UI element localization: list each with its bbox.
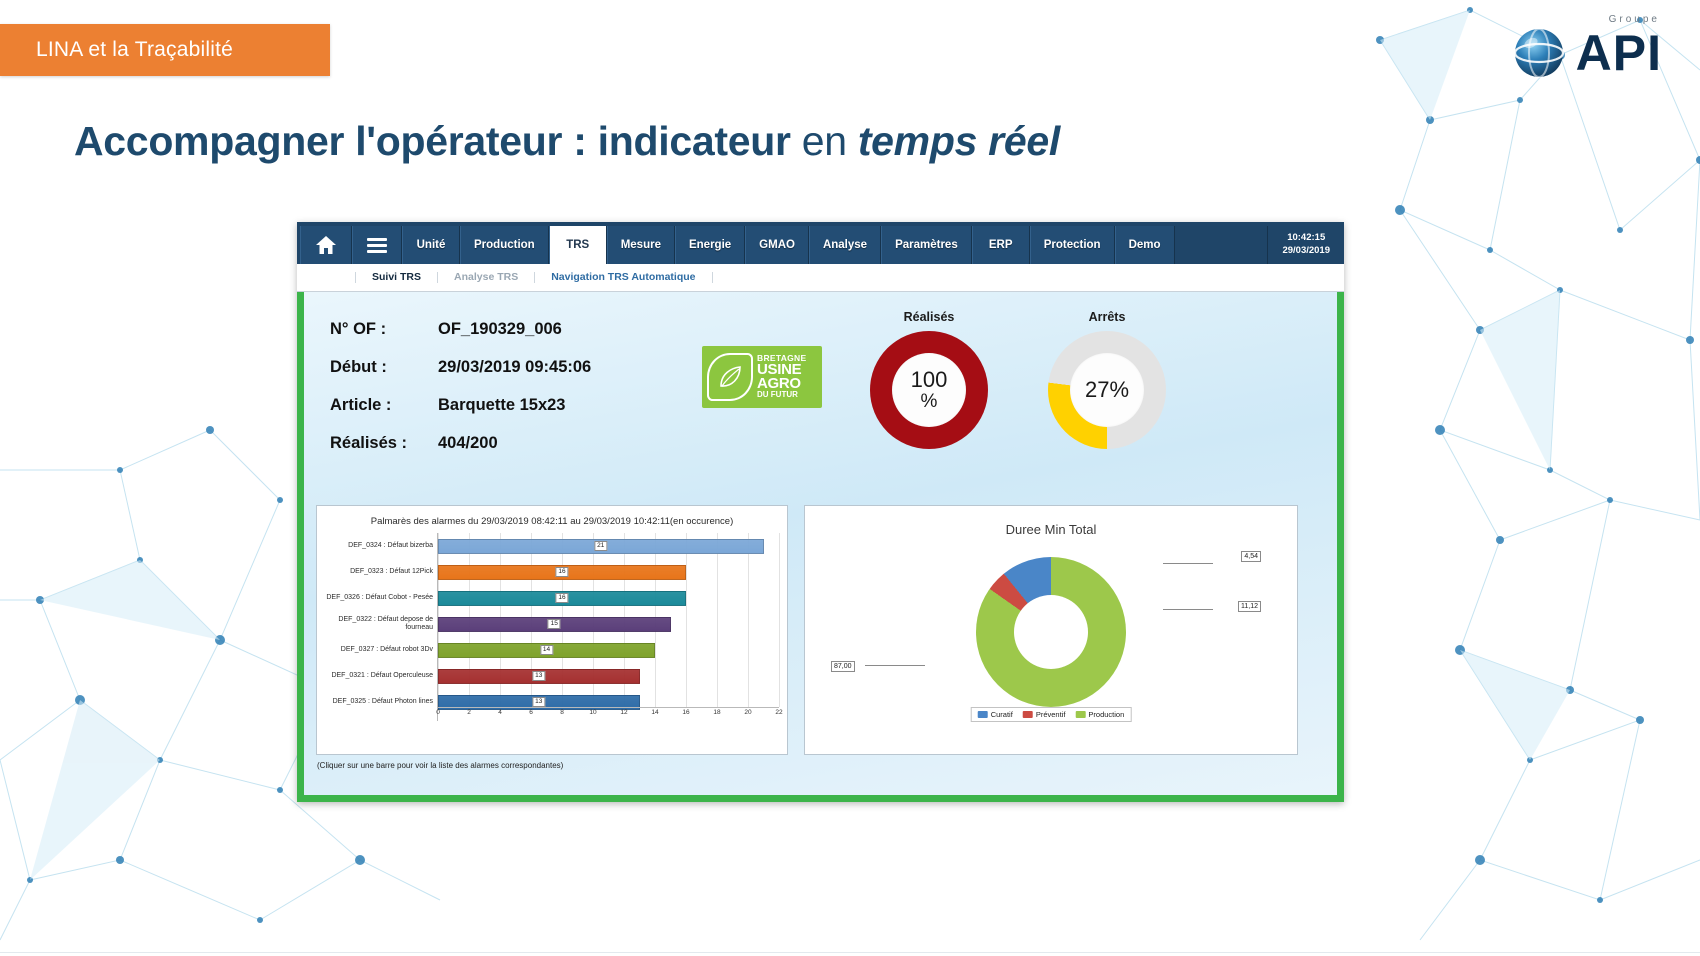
bar-value-label: 16: [555, 593, 568, 603]
subnav-item-suivi-trs[interactable]: Suivi TRS: [355, 272, 437, 283]
kpi-gauges: Réalisés 100 % Arrêts 27%: [870, 310, 1166, 495]
bar[interactable]: 14: [438, 643, 655, 658]
bar-row[interactable]: 16: [438, 585, 779, 611]
legend-item-production: Production: [1075, 710, 1124, 719]
bar[interactable]: 15: [438, 617, 671, 632]
bar-category-label: DEF_0323 : Défaut 12Pick: [325, 559, 437, 585]
x-axis-tick: 10: [589, 709, 596, 716]
pie-leader-curatif: [1163, 609, 1213, 610]
clock-date: 29/03/2019: [1282, 245, 1330, 258]
duration-pie-chart-card[interactable]: Duree Min Total 4,54 11,12 87,00 Curatif: [804, 505, 1298, 755]
pie-leader-production: [865, 665, 925, 666]
gauge-realises-unit: %: [921, 392, 938, 411]
usine-line-futur: DU FUTUR: [757, 391, 806, 398]
legend-swatch-curatif: [978, 711, 988, 718]
slide-bottom-rule: [0, 952, 1700, 956]
app-navbar: Unité Production TRS Mesure Energie GMAO…: [297, 222, 1344, 264]
bar-row[interactable]: 21: [438, 533, 779, 559]
x-axis-tick: 12: [620, 709, 627, 716]
legend-label-preventif: Préventif: [1036, 710, 1066, 719]
bar[interactable]: 16: [438, 565, 686, 580]
info-label-article: Article :: [330, 396, 438, 415]
info-value-realises: 404/200: [438, 434, 498, 453]
nav-item-mesure[interactable]: Mesure: [607, 226, 675, 264]
bar-category-label: DEF_0321 : Défaut Operculeuse: [325, 663, 437, 689]
bar-chart-title: Palmarès des alarmes du 29/03/2019 08:42…: [325, 516, 779, 527]
subnav-item-analyse-trs[interactable]: Analyse TRS: [437, 272, 534, 283]
bar-row[interactable]: 15: [438, 611, 779, 637]
api-logo: Groupe API: [1512, 26, 1662, 80]
order-info-panel: N° OF : OF_190329_006 Début : 29/03/2019…: [316, 300, 696, 495]
pie-callout-curatif: 11,12: [1238, 601, 1261, 612]
bar-chart-category-labels: DEF_0324 : Défaut bizerbaDEF_0323 : Défa…: [325, 533, 437, 721]
bar-value-label: 13: [532, 697, 545, 707]
bar[interactable]: 16: [438, 591, 686, 606]
bar-category-label: DEF_0327 : Défaut robot 3Dv: [325, 637, 437, 663]
info-label-of: N° OF :: [330, 320, 438, 339]
info-value-debut: 29/03/2019 09:45:06: [438, 358, 591, 377]
bar-value-label: 15: [548, 619, 561, 629]
legend-label-production: Production: [1088, 710, 1124, 719]
legend-item-preventif: Préventif: [1023, 710, 1066, 719]
bar-row[interactable]: 13: [438, 663, 779, 689]
usine-line-agro: AGRO: [757, 377, 806, 391]
gauge-realises-ring: 100 %: [870, 331, 988, 449]
legend-item-curatif: Curatif: [978, 710, 1013, 719]
info-row-of: N° OF : OF_190329_006: [330, 320, 696, 339]
logo-groupe-label: Groupe: [1609, 14, 1660, 25]
x-axis-tick: 16: [682, 709, 689, 716]
bar-category-label: DEF_0325 : Défaut Photon lines: [325, 689, 437, 715]
gauge-realises-center: 100 %: [892, 353, 966, 427]
subnav-item-navigation-trs-automatique[interactable]: Navigation TRS Automatique: [534, 272, 712, 283]
trs-application-screenshot: Unité Production TRS Mesure Energie GMAO…: [297, 222, 1344, 802]
nav-item-production[interactable]: Production: [460, 226, 549, 264]
api-logo-text: Groupe API: [1576, 28, 1662, 78]
pie-callout-preventif: 4,54: [1241, 551, 1261, 562]
leaf-icon: [707, 353, 753, 401]
gauge-arrets-center: 27%: [1070, 353, 1144, 427]
bar-category-label: DEF_0322 : Défaut depose de fourneau: [325, 611, 437, 637]
page-title-normal: en: [802, 118, 847, 164]
bar-chart-hint: (Cliquer sur une barre pour voir la list…: [317, 761, 563, 770]
pie-callout-production: 87,00: [831, 661, 855, 672]
bar-value-label: 14: [540, 645, 553, 655]
pie-chart: 4,54 11,12 87,00 Curatif Préventif: [813, 539, 1289, 724]
pie-chart-donut: [976, 557, 1126, 707]
nav-item-protection[interactable]: Protection: [1030, 226, 1115, 264]
info-row-realises: Réalisés : 404/200: [330, 434, 696, 453]
x-axis-tick: 2: [467, 709, 471, 716]
bar-category-label: DEF_0324 : Défaut bizerba: [325, 533, 437, 559]
pie-chart-legend: Curatif Préventif Production: [971, 707, 1132, 722]
info-label-realises: Réalisés :: [330, 434, 438, 453]
legend-swatch-production: [1075, 711, 1085, 718]
bar-value-label: 21: [594, 541, 607, 551]
bar-chart: DEF_0324 : Défaut bizerbaDEF_0323 : Défa…: [325, 533, 779, 721]
pie-leader-preventif: [1163, 563, 1213, 564]
gauge-arrets: Arrêts 27%: [1048, 310, 1166, 495]
x-axis-tick: 20: [744, 709, 751, 716]
info-value-of: OF_190329_006: [438, 320, 562, 339]
nav-item-unite[interactable]: Unité: [402, 226, 460, 264]
summary-region: N° OF : OF_190329_006 Début : 29/03/2019…: [316, 300, 1325, 495]
gauge-realises-title: Réalisés: [870, 310, 988, 324]
app-subnav: Suivi TRS Analyse TRS Navigation TRS Aut…: [297, 264, 1344, 292]
nav-item-analyse[interactable]: Analyse: [809, 226, 881, 264]
app-content: N° OF : OF_190329_006 Début : 29/03/2019…: [297, 292, 1344, 802]
charts-region: Palmarès des alarmes du 29/03/2019 08:42…: [316, 505, 1325, 755]
nav-item-trs[interactable]: TRS: [549, 226, 607, 264]
api-logo-mark: [1512, 26, 1566, 80]
page-title: Accompagner l'opérateur : indicateur en …: [74, 118, 1060, 165]
nav-item-erp[interactable]: ERP: [972, 226, 1030, 264]
page-title-bold: Accompagner l'opérateur : indicateur: [74, 118, 791, 164]
bar-row[interactable]: 16: [438, 559, 779, 585]
nav-item-demo[interactable]: Demo: [1115, 226, 1175, 264]
pie-chart-hole: [1014, 595, 1088, 669]
gauge-realises-value: 100: [911, 369, 948, 391]
home-icon[interactable]: [300, 226, 352, 264]
bar-value-label: 16: [555, 567, 568, 577]
bar[interactable]: 21: [438, 539, 764, 554]
bar-row[interactable]: 14: [438, 637, 779, 663]
info-row-article: Article : Barquette 15x23: [330, 396, 696, 415]
gauge-arrets-title: Arrêts: [1048, 310, 1166, 324]
bretagne-usine-agro-futur-logo: BRETAGNE USINE AGRO DU FUTUR: [702, 346, 822, 408]
nav-clock: 10:42:15 29/03/2019: [1267, 226, 1344, 264]
bar-category-label: DEF_0326 : Défaut Cobot - Pesée: [325, 585, 437, 611]
hamburger-icon[interactable]: [352, 226, 402, 264]
gauge-arrets-value: 27%: [1085, 379, 1129, 401]
x-axis-tick: 6: [529, 709, 533, 716]
section-banner: LINA et la Traçabilité: [0, 24, 330, 76]
nav-item-gmao[interactable]: GMAO: [745, 226, 809, 264]
bar[interactable]: 13: [438, 669, 640, 684]
x-axis-tick: 8: [560, 709, 564, 716]
info-label-debut: Début :: [330, 358, 438, 377]
pie-chart-title: Duree Min Total: [813, 522, 1289, 537]
usine-logo-text: BRETAGNE USINE AGRO DU FUTUR: [757, 355, 806, 398]
clock-time: 10:42:15: [1287, 232, 1325, 245]
x-axis-tick: 4: [498, 709, 502, 716]
gauge-arrets-ring: 27%: [1048, 331, 1166, 449]
grid-line: [779, 533, 780, 707]
info-row-debut: Début : 29/03/2019 09:45:06: [330, 358, 696, 377]
bar-chart-plot: 21161615141313 0246810121416182022: [437, 533, 779, 721]
alarm-bar-chart-card[interactable]: Palmarès des alarmes du 29/03/2019 08:42…: [316, 505, 788, 755]
nav-item-energie[interactable]: Energie: [675, 226, 745, 264]
bar-value-label: 13: [532, 671, 545, 681]
x-axis-tick: 14: [651, 709, 658, 716]
x-axis-tick: 0: [436, 709, 440, 716]
x-axis-tick: 22: [775, 709, 782, 716]
legend-label-curatif: Curatif: [991, 710, 1013, 719]
gauge-realises: Réalisés 100 %: [870, 310, 988, 495]
bar-chart-x-axis: 0246810121416182022: [438, 707, 779, 721]
logo-api-label: API: [1576, 25, 1662, 81]
legend-swatch-preventif: [1023, 711, 1033, 718]
info-value-article: Barquette 15x23: [438, 396, 565, 415]
banner-label: LINA et la Traçabilité: [36, 38, 233, 62]
x-axis-tick: 18: [713, 709, 720, 716]
nav-item-parametres[interactable]: Paramètres: [881, 226, 972, 264]
page-title-italic: temps réel: [858, 118, 1060, 164]
